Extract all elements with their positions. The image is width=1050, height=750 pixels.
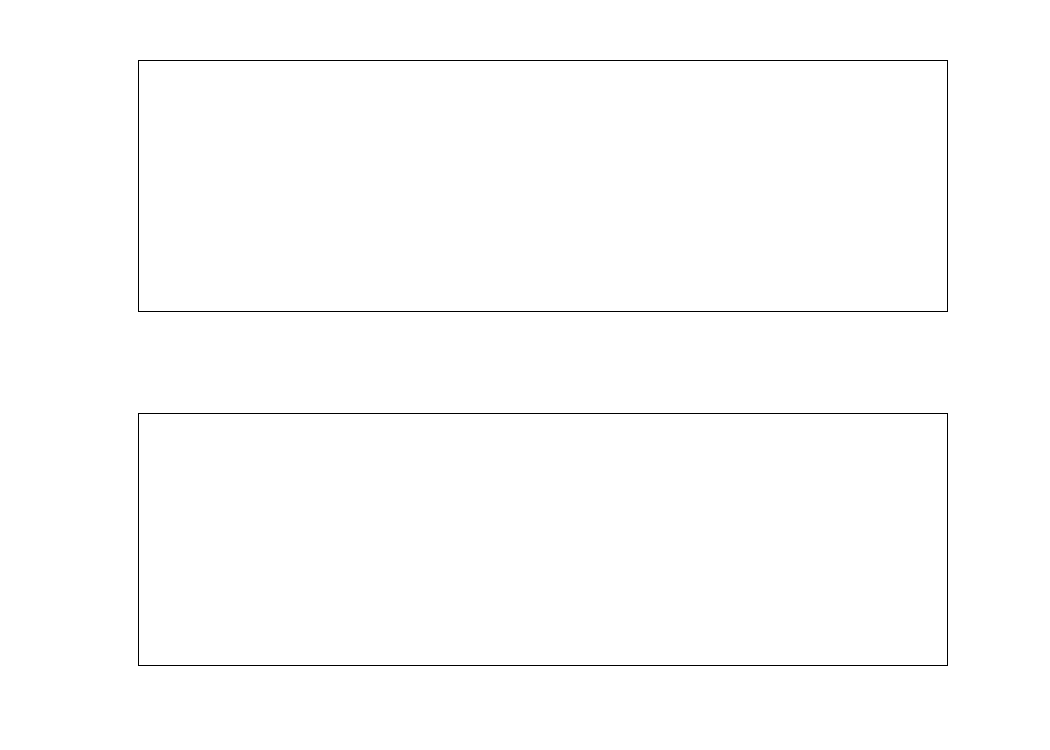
top-plot-area xyxy=(138,60,948,312)
bottom-plot-area xyxy=(138,413,948,666)
figure-canvas xyxy=(0,0,1050,750)
